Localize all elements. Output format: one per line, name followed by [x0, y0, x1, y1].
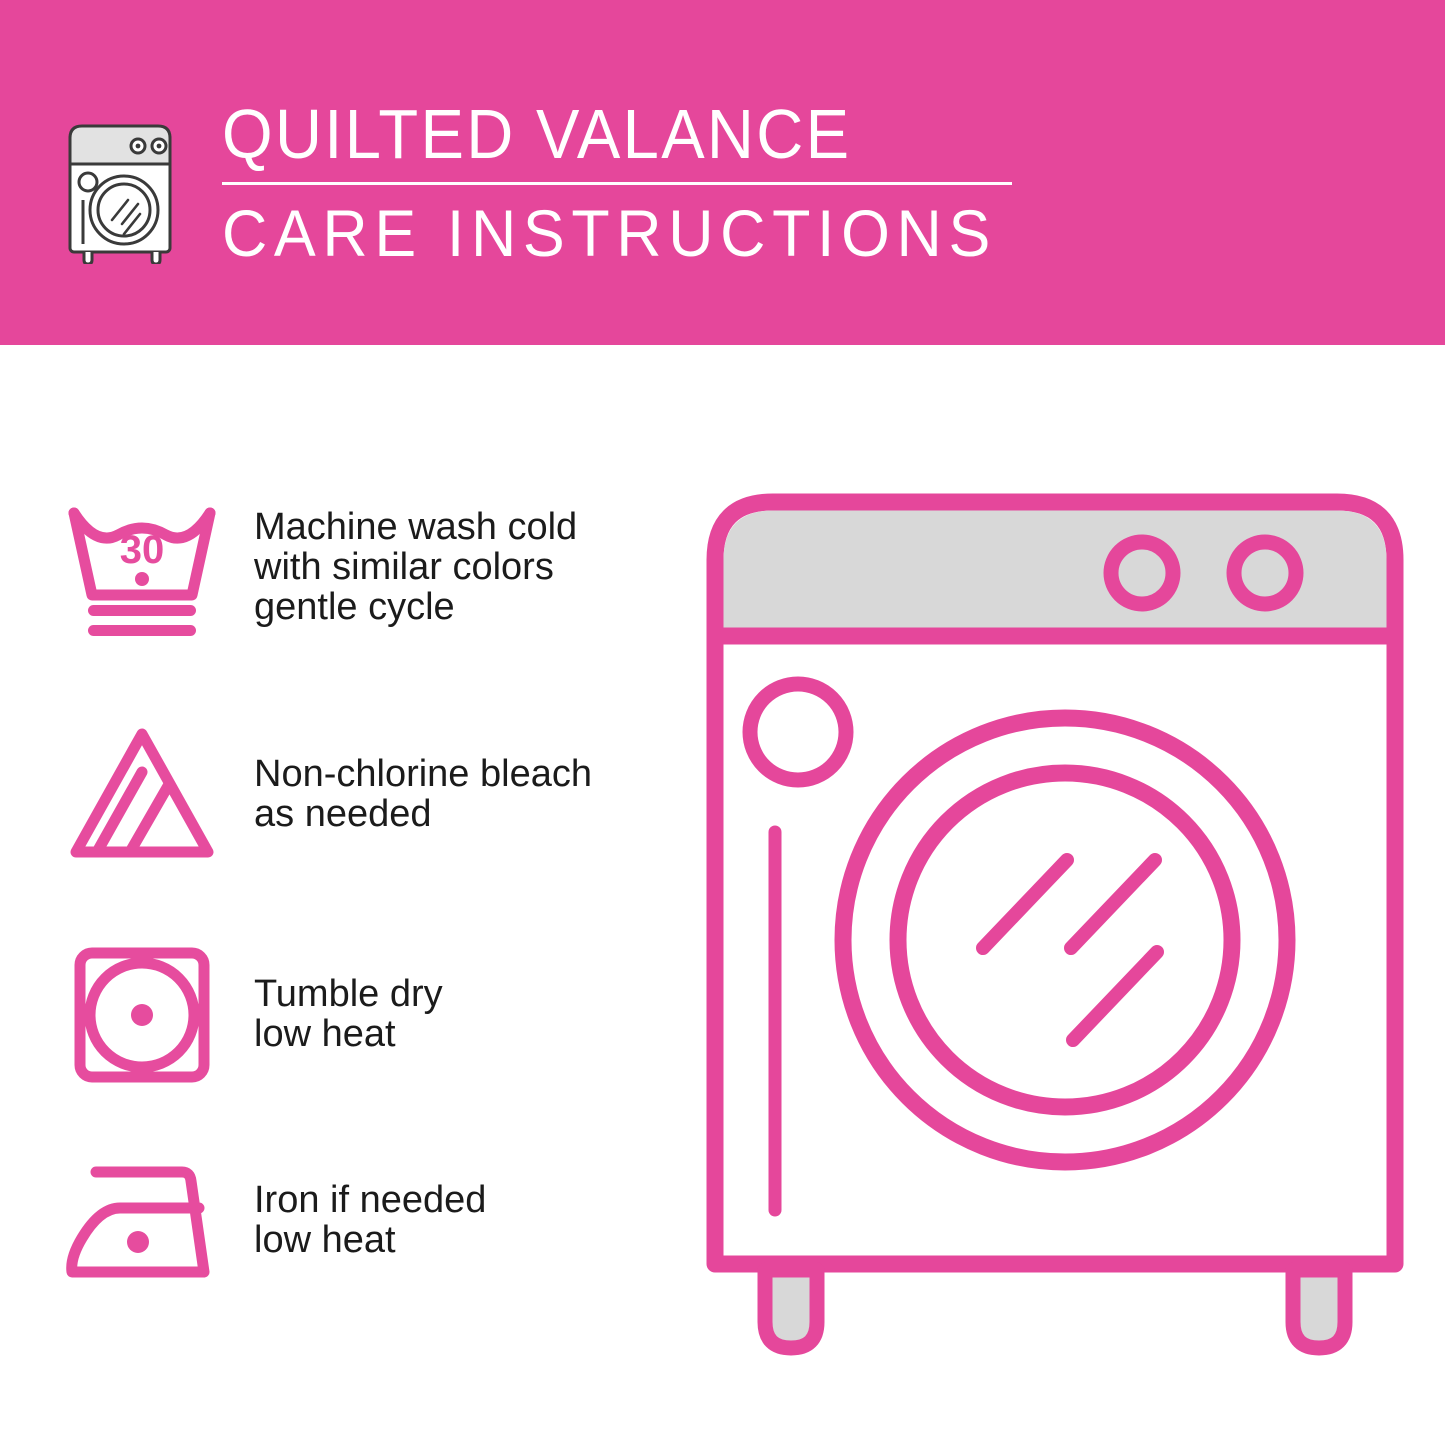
- foot-left: [765, 1270, 817, 1348]
- washing-machine-illustration: [705, 470, 1405, 1380]
- care-row: Iron if needed low heat: [0, 1150, 680, 1300]
- washing-machine-icon: [60, 104, 188, 264]
- care-label: Tumble dry low heat: [254, 940, 443, 1054]
- header-banner: QUILTED VALANCE CARE INSTRUCTIONS: [0, 0, 1445, 345]
- foot-right: [1293, 1270, 1345, 1348]
- care-instructions-page: QUILTED VALANCE CARE INSTRUCTIONS 30: [0, 0, 1445, 1445]
- wash-temperature-value: 30: [120, 528, 165, 572]
- non-chlorine-bleach-icon: [62, 720, 222, 870]
- tumble-dry-low-icon: [62, 940, 222, 1090]
- care-label: Machine wash cold with similar colors ge…: [254, 495, 577, 627]
- care-row: Tumble dry low heat: [0, 940, 680, 1090]
- care-label: Non-chlorine bleach as needed: [254, 720, 592, 834]
- header-titles: QUILTED VALANCE CARE INSTRUCTIONS: [222, 96, 1038, 269]
- title-divider: [222, 182, 1012, 185]
- page-title: QUILTED VALANCE: [222, 96, 981, 172]
- care-label: Iron if needed low heat: [254, 1150, 486, 1260]
- header-content: QUILTED VALANCE CARE INSTRUCTIONS: [60, 96, 1038, 269]
- machine-wash-30-gentle-icon: 30: [62, 495, 222, 645]
- iron-low-heat-icon: [62, 1150, 222, 1300]
- care-row: 30 Machine wash cold with similar colors…: [0, 495, 680, 645]
- care-row: Non-chlorine bleach as needed: [0, 720, 680, 870]
- care-instruction-list: 30 Machine wash cold with similar colors…: [0, 345, 680, 1445]
- page-subtitle: CARE INSTRUCTIONS: [222, 197, 997, 269]
